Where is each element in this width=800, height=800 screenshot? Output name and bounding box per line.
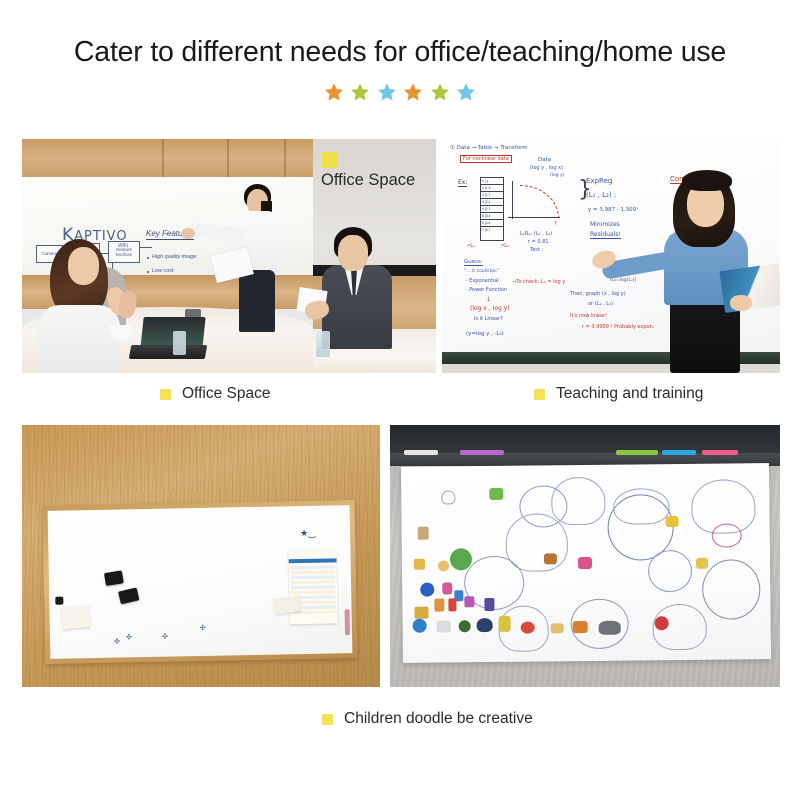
caption-children-label: Children doodle be creative xyxy=(344,710,533,728)
hw-line-2: Data xyxy=(538,157,551,163)
star-4-icon xyxy=(403,82,423,102)
hw-now-linear: It's now linear! xyxy=(570,313,607,319)
photo-office-space: KAPTIVO Key Features Camera Processor Ne… xyxy=(22,139,436,373)
wall-pink-strip xyxy=(345,609,350,635)
teacher-hair-front xyxy=(682,170,732,191)
hw-then-graph: Then, graph (x , log y) xyxy=(570,291,626,297)
star-5-icon xyxy=(430,82,450,102)
sticker-blue-ball xyxy=(420,583,434,597)
doodle-figure-1: ✣ xyxy=(114,638,120,646)
hw-guess-sub: “... it could be:” xyxy=(464,269,500,274)
presenter-hand xyxy=(181,228,195,239)
rating-stars xyxy=(0,82,800,102)
star-3-icon xyxy=(377,82,397,102)
wall-seam xyxy=(227,139,229,179)
hw-guess: Guess: xyxy=(464,259,483,266)
hw-equation: y = 3.987 · 1.309ˣ xyxy=(588,207,639,213)
sticker-crab xyxy=(521,622,535,634)
whiteboard-wood-frame: ★‿ ✣ ✣ ✣ ✣ xyxy=(43,500,358,664)
sticker-number-1 xyxy=(448,598,456,611)
schedule-sheet-header xyxy=(289,558,337,563)
hw-bracket-note: [L₃=log(L₂)] xyxy=(610,278,636,283)
hw-line-4: (log y) xyxy=(550,173,564,178)
photo-children-doodle xyxy=(390,425,780,687)
sticker-gray-tv xyxy=(437,620,451,632)
sticker-purple xyxy=(464,596,474,607)
water-glass-right xyxy=(316,331,330,357)
caption-children-doodle: Children doodle be creative xyxy=(322,710,533,728)
sticker-duck xyxy=(573,621,588,633)
caption-office-space: Office Space xyxy=(160,385,270,403)
overlay-office-space-label: Office Space xyxy=(321,171,415,190)
magnet-clip xyxy=(55,597,63,605)
whiteboard-wifi-label: WiFi xyxy=(118,243,128,249)
caption-bullet-icon xyxy=(160,389,171,400)
caption-bullet-icon xyxy=(534,389,545,400)
schedule-sheet xyxy=(288,549,337,624)
promo-page: Cater to different needs for office/teac… xyxy=(0,0,800,800)
hw-or-line: or (L₁ , L₃) xyxy=(588,301,613,307)
caption-teaching-label: Teaching and training xyxy=(556,385,703,403)
sticker-beige xyxy=(418,527,429,540)
doodle-figure-3: ✣ xyxy=(162,633,168,641)
sticker-elephant xyxy=(599,621,621,635)
hw-final-line: (y=log y , ·L₃) xyxy=(466,331,504,337)
hw-is-linear: Is it Linear? xyxy=(474,316,503,322)
star-1-icon xyxy=(324,82,344,102)
sticker-green-butterfly xyxy=(489,488,503,500)
hw-to-check: →To check: L₃ = log y xyxy=(512,279,565,285)
sticky-note-pad xyxy=(61,605,91,630)
hw-line-3: (log y , log x) xyxy=(530,165,563,171)
hw-expreg: ExpReg xyxy=(586,177,612,185)
sticker-ladybug xyxy=(655,616,669,630)
seated-woman-face xyxy=(68,247,99,285)
sticker-bee-1 xyxy=(666,516,679,527)
star-6-icon xyxy=(456,82,476,102)
doodle-figure-4: ✣ xyxy=(200,624,206,632)
photo-home-whiteboard: ★‿ ✣ ✣ ✣ ✣ xyxy=(22,425,380,687)
hw-example-label: Ex: xyxy=(458,179,467,187)
sticker-yellow xyxy=(414,559,425,570)
sticker-blue-fish xyxy=(413,619,427,633)
teacher-hand-holding-book xyxy=(730,295,752,311)
sticker-number-6 xyxy=(434,598,444,611)
hw-line-1: ① Data → Table → Transform xyxy=(450,145,528,151)
eraser-1 xyxy=(104,570,124,586)
sticker-gold xyxy=(438,560,449,571)
water-glass-left xyxy=(173,331,186,355)
hw-minimizes: Minimizes xyxy=(590,221,620,228)
caption-teaching-training: Teaching and training xyxy=(534,385,703,403)
sticker-pink-flower xyxy=(578,557,592,569)
doodle-whiteboard xyxy=(401,463,771,663)
hw-l1-label: ↗L₁ xyxy=(466,243,475,249)
hw-logxlogy: (log x , log y) xyxy=(470,305,510,312)
star-2-icon xyxy=(350,82,370,102)
hw-arrow-down: ↓ xyxy=(486,296,491,303)
marker-white xyxy=(404,450,438,455)
seated-man-face xyxy=(338,235,368,271)
hw-l2-label: ↗L₂ xyxy=(500,243,509,249)
sticker-number-2 xyxy=(484,598,494,611)
sticker-pink xyxy=(442,582,452,594)
hw-final-r: r = 0.9999 ! Probably expon. xyxy=(582,324,654,330)
laptop-base xyxy=(129,345,207,359)
wall-seam xyxy=(284,139,286,179)
hw-data-table: x | y1 |1.32 |1.73 |2.14 |2.75 |3.46 |4.… xyxy=(480,177,504,241)
sticker-brown-bear xyxy=(544,553,557,564)
sticker-orange xyxy=(414,607,428,619)
doodle-scribble: ★‿ xyxy=(300,528,316,539)
overlay-yellow-square-icon xyxy=(322,152,338,168)
marker-blue xyxy=(662,450,696,455)
hw-boxed-note: For nonlinear data xyxy=(460,155,512,163)
whiteboard-white-surface: ★‿ ✣ ✣ ✣ ✣ xyxy=(48,505,353,659)
marker-green xyxy=(616,450,658,455)
caption-bullet-icon xyxy=(322,714,333,725)
hw-test: Test : xyxy=(530,247,543,253)
whiteboard-bullet-2: Low cost xyxy=(152,268,173,274)
eraser-2 xyxy=(118,587,139,604)
sticker-dark-green xyxy=(459,620,471,632)
marker-purple xyxy=(460,450,504,455)
hw-power-function: · Power Function xyxy=(466,287,507,293)
page-title: Cater to different needs for office/teac… xyxy=(0,36,800,69)
hw-r-value: r = 0.81 xyxy=(528,239,549,245)
hw-residuals: Residuals! xyxy=(590,231,621,239)
caption-office-label: Office Space xyxy=(182,385,270,403)
presenter-legs xyxy=(239,270,275,332)
photo-teaching-training: ① Data → Table → Transform For nonlinear… xyxy=(442,139,780,373)
hw-linreg: L₁Rₑₙ (L₁ , L₂) xyxy=(520,231,552,237)
wall-seam xyxy=(162,139,164,179)
sticker-cake xyxy=(551,623,564,633)
sticker-green-circle xyxy=(450,548,472,570)
sticker-bee-2 xyxy=(696,558,708,569)
whiteboard-bullet-1: High quality image xyxy=(152,254,196,260)
hw-exponential: · Exponential xyxy=(466,278,499,284)
hw-axis-note: ? xyxy=(554,221,557,227)
sticker-giraffe xyxy=(499,616,511,632)
sticker-whale xyxy=(477,618,493,632)
marker-pink xyxy=(702,450,738,455)
doodle-figure-2: ✣ xyxy=(126,633,132,641)
hw-expreg-args: (L₁ , L₂) : xyxy=(586,191,616,199)
